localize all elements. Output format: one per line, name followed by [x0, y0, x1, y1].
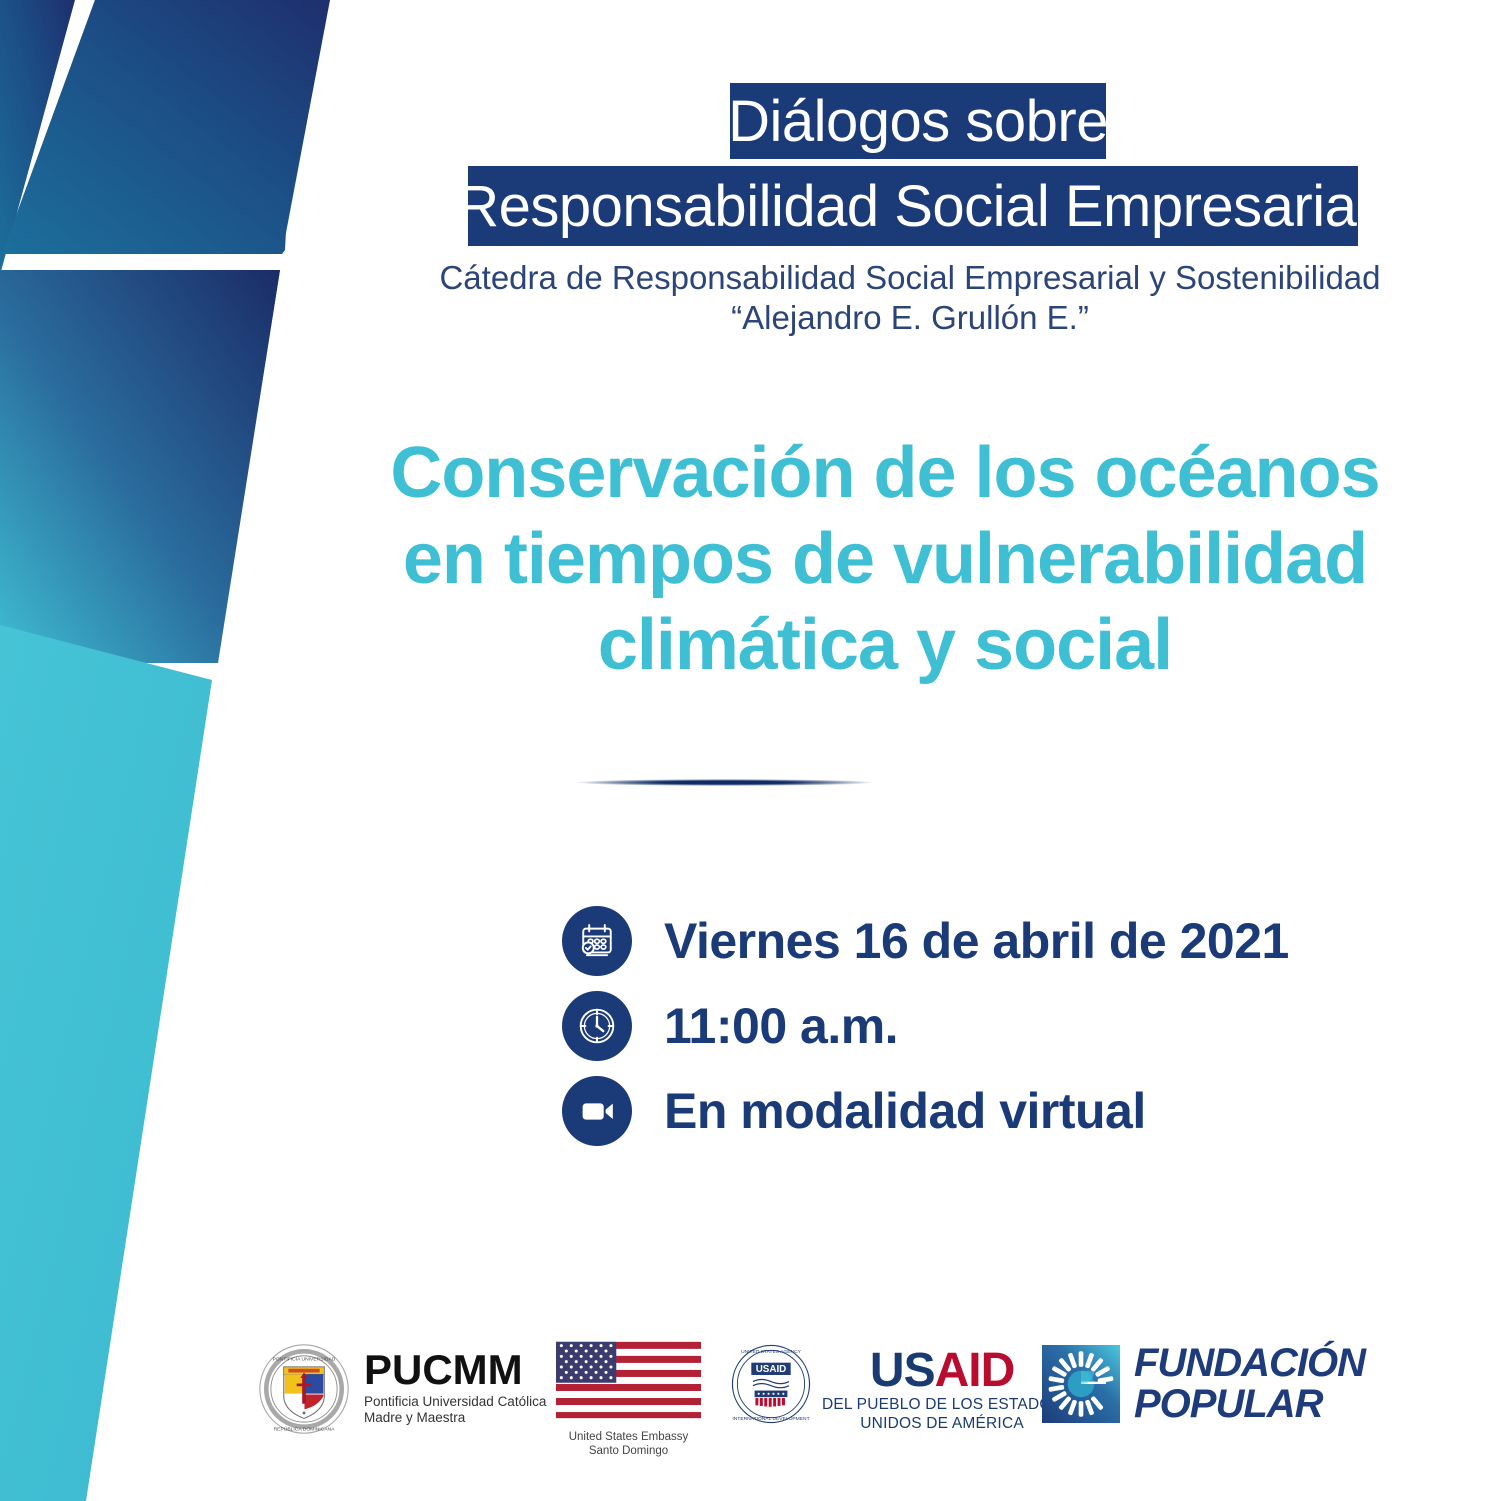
headline-line2: en tiempos de vulnerabilidad: [330, 516, 1440, 602]
fundacion-popular-line1: FUNDACIÓN: [1134, 1343, 1365, 1384]
event-detail-modality: En modalidad virtual: [562, 1068, 1289, 1153]
usaid-subtitle-line2: UNIDOS DE AMÉRICA: [822, 1414, 1062, 1433]
pucmm-name: PUCMM: [364, 1349, 546, 1391]
event-time-text: 11:00 a.m.: [664, 997, 898, 1055]
svg-text:INTERNATIONAL DEVELOPMENT: INTERNATIONAL DEVELOPMENT: [732, 1416, 809, 1422]
lens-divider: [575, 779, 875, 786]
clock-icon: [562, 991, 632, 1061]
decorative-left-shapes: [0, 0, 360, 1501]
video-camera-icon: [562, 1076, 632, 1146]
chair-subtitle: Cátedra de Responsabilidad Social Empres…: [360, 258, 1460, 338]
event-poster: Diálogos sobre Responsabilidad Social Em…: [0, 0, 1501, 1501]
chair-subtitle-line1: Cátedra de Responsabilidad Social Empres…: [360, 258, 1460, 298]
pucmm-subtitle-line2: Madre y Maestra: [364, 1410, 546, 1426]
event-details-list: Viernes 16 de abril de 2021 11:00 a.m.: [562, 898, 1289, 1153]
headline-line1: Conservación de los océanos: [330, 430, 1440, 516]
usaid-seal-icon: USAID UNITED STATES AGENCY INTERN: [730, 1343, 812, 1425]
event-headline: Conservación de los océanos en tiempos d…: [330, 430, 1440, 688]
event-detail-time: 11:00 a.m.: [562, 983, 1289, 1068]
event-modality-text: En modalidad virtual: [664, 1082, 1146, 1140]
usaid-word-us: US: [870, 1344, 935, 1397]
usaid-word-aid: AID: [935, 1344, 1015, 1397]
usaid-wordmark: USAID: [822, 1347, 1062, 1395]
event-date-text: Viernes 16 de abril de 2021: [664, 912, 1289, 970]
logo-usaid: USAID UNITED STATES AGENCY INTERN: [730, 1343, 1062, 1433]
embassy-caption: United States Embassy Santo Domingo: [556, 1430, 701, 1458]
logo-pucmm: PONTIFICIA UNIVERSIDAD REPÚBLICA DOMINIC…: [258, 1343, 546, 1435]
logo-fundacion-popular: FUNDACIÓN POPULAR: [1042, 1343, 1365, 1425]
title-bar-line1: Diálogos sobre: [730, 83, 1106, 159]
svg-text:PONTIFICIA UNIVERSIDAD: PONTIFICIA UNIVERSIDAD: [273, 1356, 336, 1362]
embassy-caption-line1: United States Embassy: [556, 1430, 701, 1444]
usaid-subtitle-line1: DEL PUEBLO DE LOS ESTADOS: [822, 1395, 1062, 1414]
svg-text:UNITED STATES AGENCY: UNITED STATES AGENCY: [741, 1349, 802, 1355]
svg-text:USAID: USAID: [756, 1364, 787, 1375]
sponsor-logos: PONTIFICIA UNIVERSIDAD REPÚBLICA DOMINIC…: [0, 1335, 1501, 1485]
event-detail-date: Viernes 16 de abril de 2021: [562, 898, 1289, 983]
title-bar-line2: Responsabilidad Social Empresarial: [468, 166, 1358, 246]
us-flag-icon: [556, 1341, 701, 1419]
calendar-icon: [562, 906, 632, 976]
pucmm-subtitle: Pontificia Universidad Católica Madre y …: [364, 1394, 546, 1426]
chair-subtitle-line2: “Alejandro E. Grullón E.”: [360, 298, 1460, 338]
embassy-caption-line2: Santo Domingo: [556, 1444, 701, 1458]
pucmm-subtitle-line1: Pontificia Universidad Católica: [364, 1394, 546, 1410]
fundacion-popular-mark-icon: [1042, 1345, 1120, 1423]
logo-us-embassy: United States Embassy Santo Domingo: [556, 1341, 701, 1458]
pucmm-seal-icon: PONTIFICIA UNIVERSIDAD REPÚBLICA DOMINIC…: [258, 1343, 350, 1435]
headline-line3: climática y social: [330, 602, 1440, 688]
fundacion-popular-line2: POPULAR: [1134, 1384, 1365, 1425]
